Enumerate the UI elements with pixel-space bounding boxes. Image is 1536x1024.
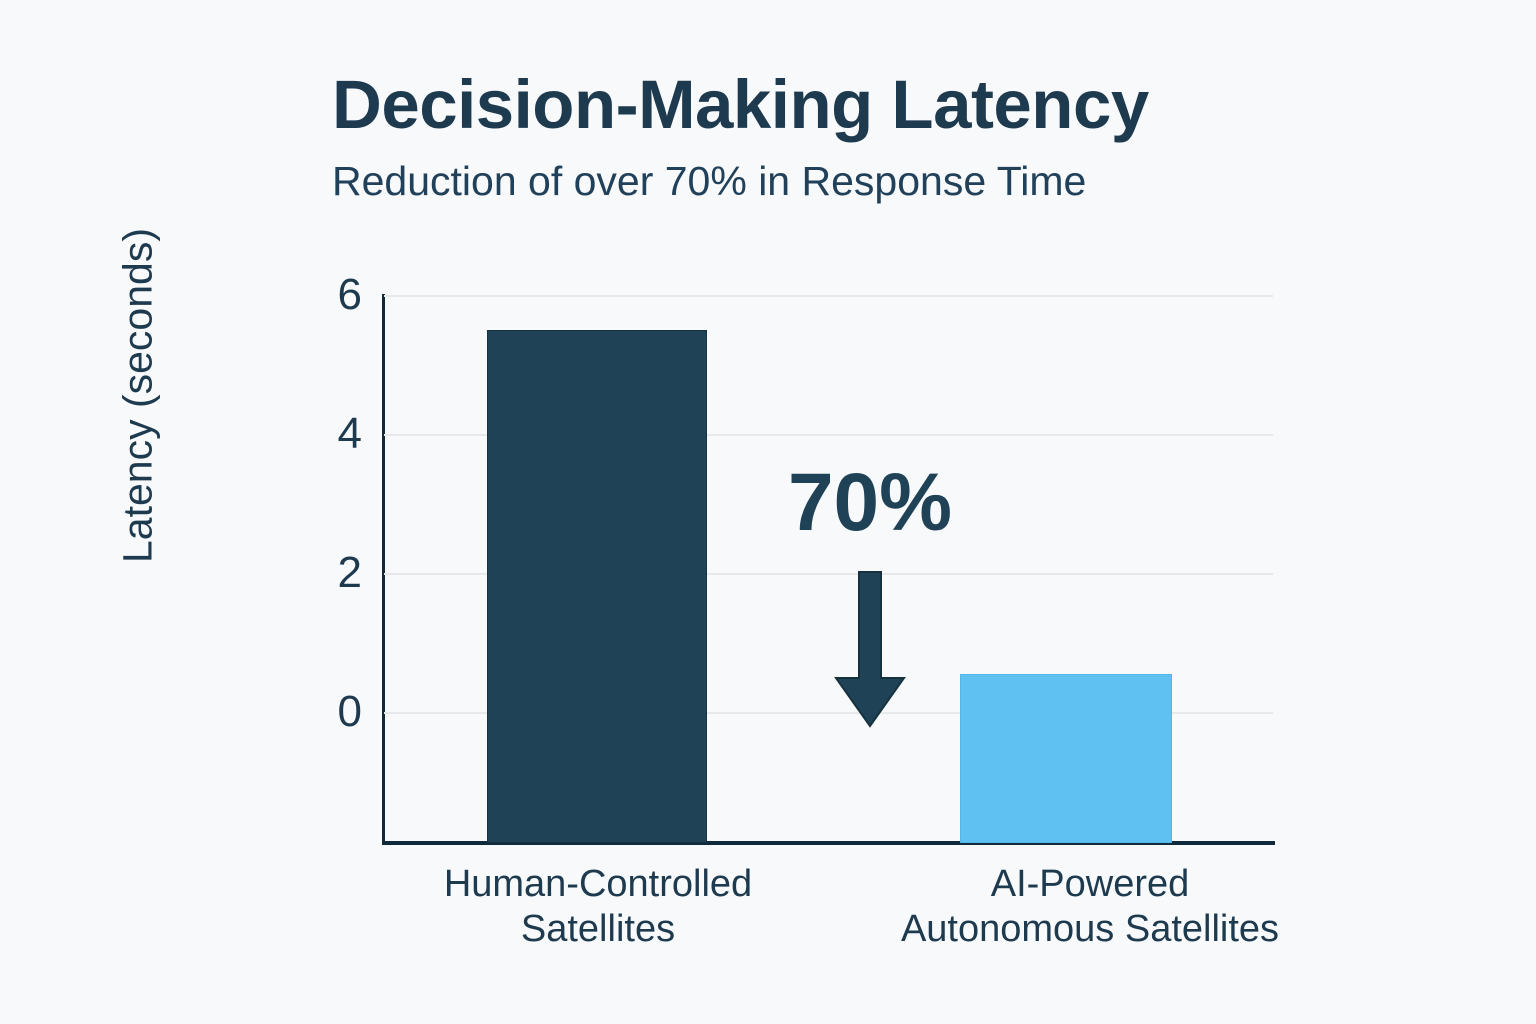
y-tick-label-2: 2 xyxy=(338,551,362,595)
y-tick-label-6: 6 xyxy=(338,273,362,317)
x-category-label-1-line-2: Autonomous Satellites xyxy=(845,907,1335,952)
x-category-label-1-line-1: AI-Powered xyxy=(845,862,1335,907)
y-tick-labels: 0 2 4 6 xyxy=(280,0,362,1024)
bar-human-controlled-satellites[interactable] xyxy=(487,330,707,843)
chart-subtitle: Reduction of over 70% in Response Time xyxy=(332,161,1332,202)
title-block: Decision-Making Latency Reduction of ove… xyxy=(332,70,1332,202)
x-category-label-0: Human-Controlled Satellites xyxy=(400,862,796,952)
chart-figure: Decision-Making Latency Reduction of ove… xyxy=(0,0,1536,1024)
bar-ai-powered-autonomous-satellites[interactable] xyxy=(960,674,1172,843)
y-tick-label-0: 0 xyxy=(338,690,362,734)
gridline-6 xyxy=(384,295,1273,297)
x-category-label-1: AI-Powered Autonomous Satellites xyxy=(845,862,1335,952)
reduction-percentage-label: 70% xyxy=(770,462,970,544)
chart-title: Decision-Making Latency xyxy=(332,70,1332,139)
y-axis-title: Latency (seconds) xyxy=(115,166,162,626)
x-category-label-0-line-2: Satellites xyxy=(400,907,796,952)
x-category-label-0-line-1: Human-Controlled xyxy=(400,862,796,907)
arrow-down-icon xyxy=(820,570,920,730)
y-tick-label-4: 4 xyxy=(338,412,362,456)
plot-area xyxy=(384,295,1273,843)
